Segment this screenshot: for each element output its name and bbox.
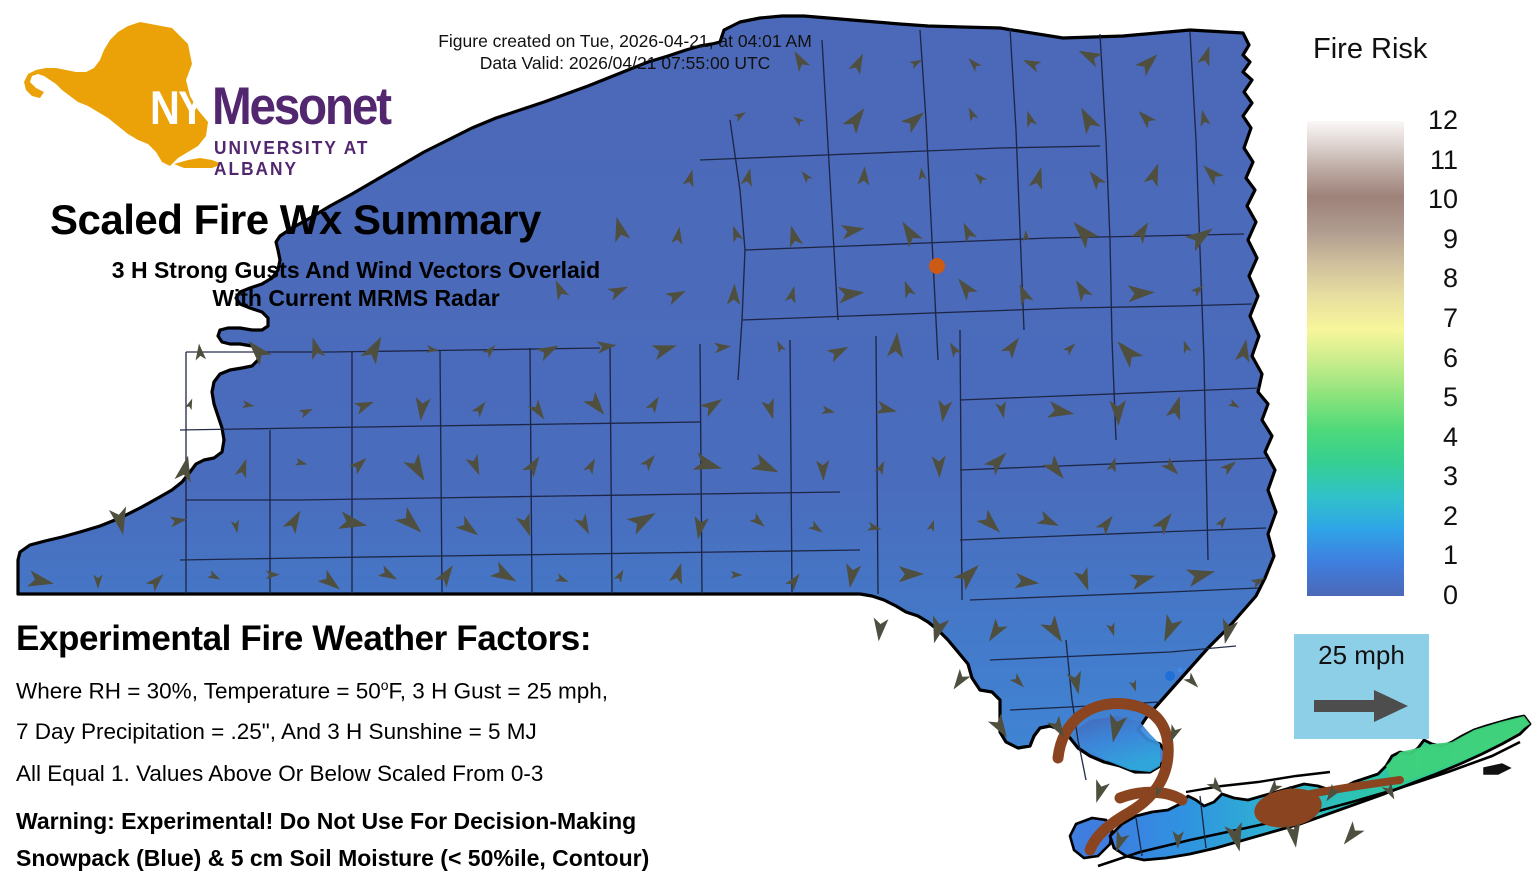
station-marker-dot <box>929 258 945 274</box>
colorbar-tick-11: 11 <box>1412 145 1458 176</box>
page-title: Scaled Fire Wx Summary <box>50 196 541 244</box>
figure-canvas: NYS Mesonet UNIVERSITY AT ALBANY Figure … <box>0 0 1536 876</box>
colorbar-tick-4: 4 <box>1412 422 1458 453</box>
figure-created-line: Figure created on Tue, 2026-04-21, at 04… <box>360 30 890 52</box>
wind-vector-arrow <box>1089 779 1110 805</box>
colorbar-tick-0: 0 <box>1412 580 1458 611</box>
page-subtitle: 3 H Strong Gusts And Wind Vectors Overla… <box>44 256 668 312</box>
wind-vector-arrow <box>1338 821 1365 849</box>
colorbar-tick-9: 9 <box>1412 224 1458 255</box>
colorbar-tick-10: 10 <box>1412 184 1458 215</box>
factor-line-2: 7 Day Precipitation = .25", And 3 H Suns… <box>16 719 537 745</box>
colorbar-tick-12: 12 <box>1412 105 1458 136</box>
warning-line-1: Warning: Experimental! Do Not Use For De… <box>16 808 636 835</box>
wind-speed-legend-label: 25 mph <box>1294 640 1429 671</box>
wind-vector-arrow <box>948 669 971 693</box>
nys-mesonet-logo: NYS Mesonet UNIVERSITY AT ALBANY <box>22 18 392 168</box>
colorbar-tick-3: 3 <box>1412 461 1458 492</box>
factor-line-1a: Where RH = 30%, Temperature = 50 <box>16 679 381 704</box>
colorbar-tick-6: 6 <box>1412 343 1458 374</box>
wind-speed-legend: 25 mph <box>1294 634 1429 739</box>
colorbar-tick-8: 8 <box>1412 263 1458 294</box>
wind-vector-arrow <box>871 618 888 643</box>
factor-line-1b: F, 3 H Gust = 25 mph, <box>389 679 608 704</box>
subtitle-line-1: 3 H Strong Gusts And Wind Vectors Overla… <box>44 256 668 284</box>
fishers-island-shape <box>1484 764 1510 774</box>
colorbar-title: Fire Risk <box>1313 33 1427 66</box>
logo-mesonet-text: Mesonet <box>212 76 390 137</box>
colorbar-tick-1: 1 <box>1412 540 1458 571</box>
colorbar-tick-2: 2 <box>1412 501 1458 532</box>
timestamp-block: Figure created on Tue, 2026-04-21, at 04… <box>360 30 890 75</box>
subtitle-line-2: With Current MRMS Radar <box>44 284 668 312</box>
fire-risk-colorbar <box>1307 121 1404 596</box>
warning-line-2: Snowpack (Blue) & 5 cm Soil Moisture (< … <box>16 845 649 872</box>
logo-university-text: UNIVERSITY AT ALBANY <box>214 138 385 180</box>
wind-vector-arrow <box>1183 672 1202 691</box>
colorbar-tick-5: 5 <box>1412 382 1458 413</box>
factor-line-1: Where RH = 30%, Temperature = 50oF, 3 H … <box>16 677 608 705</box>
factor-line-3: All Equal 1. Values Above Or Below Scale… <box>16 761 543 787</box>
factors-heading: Experimental Fire Weather Factors: <box>16 619 591 659</box>
degree-symbol: o <box>381 677 389 693</box>
colorbar-tick-7: 7 <box>1412 303 1458 334</box>
data-valid-line: Data Valid: 2026/04/21 07:55:00 UTC <box>360 52 890 74</box>
wind-arrow-icon <box>1314 686 1410 726</box>
